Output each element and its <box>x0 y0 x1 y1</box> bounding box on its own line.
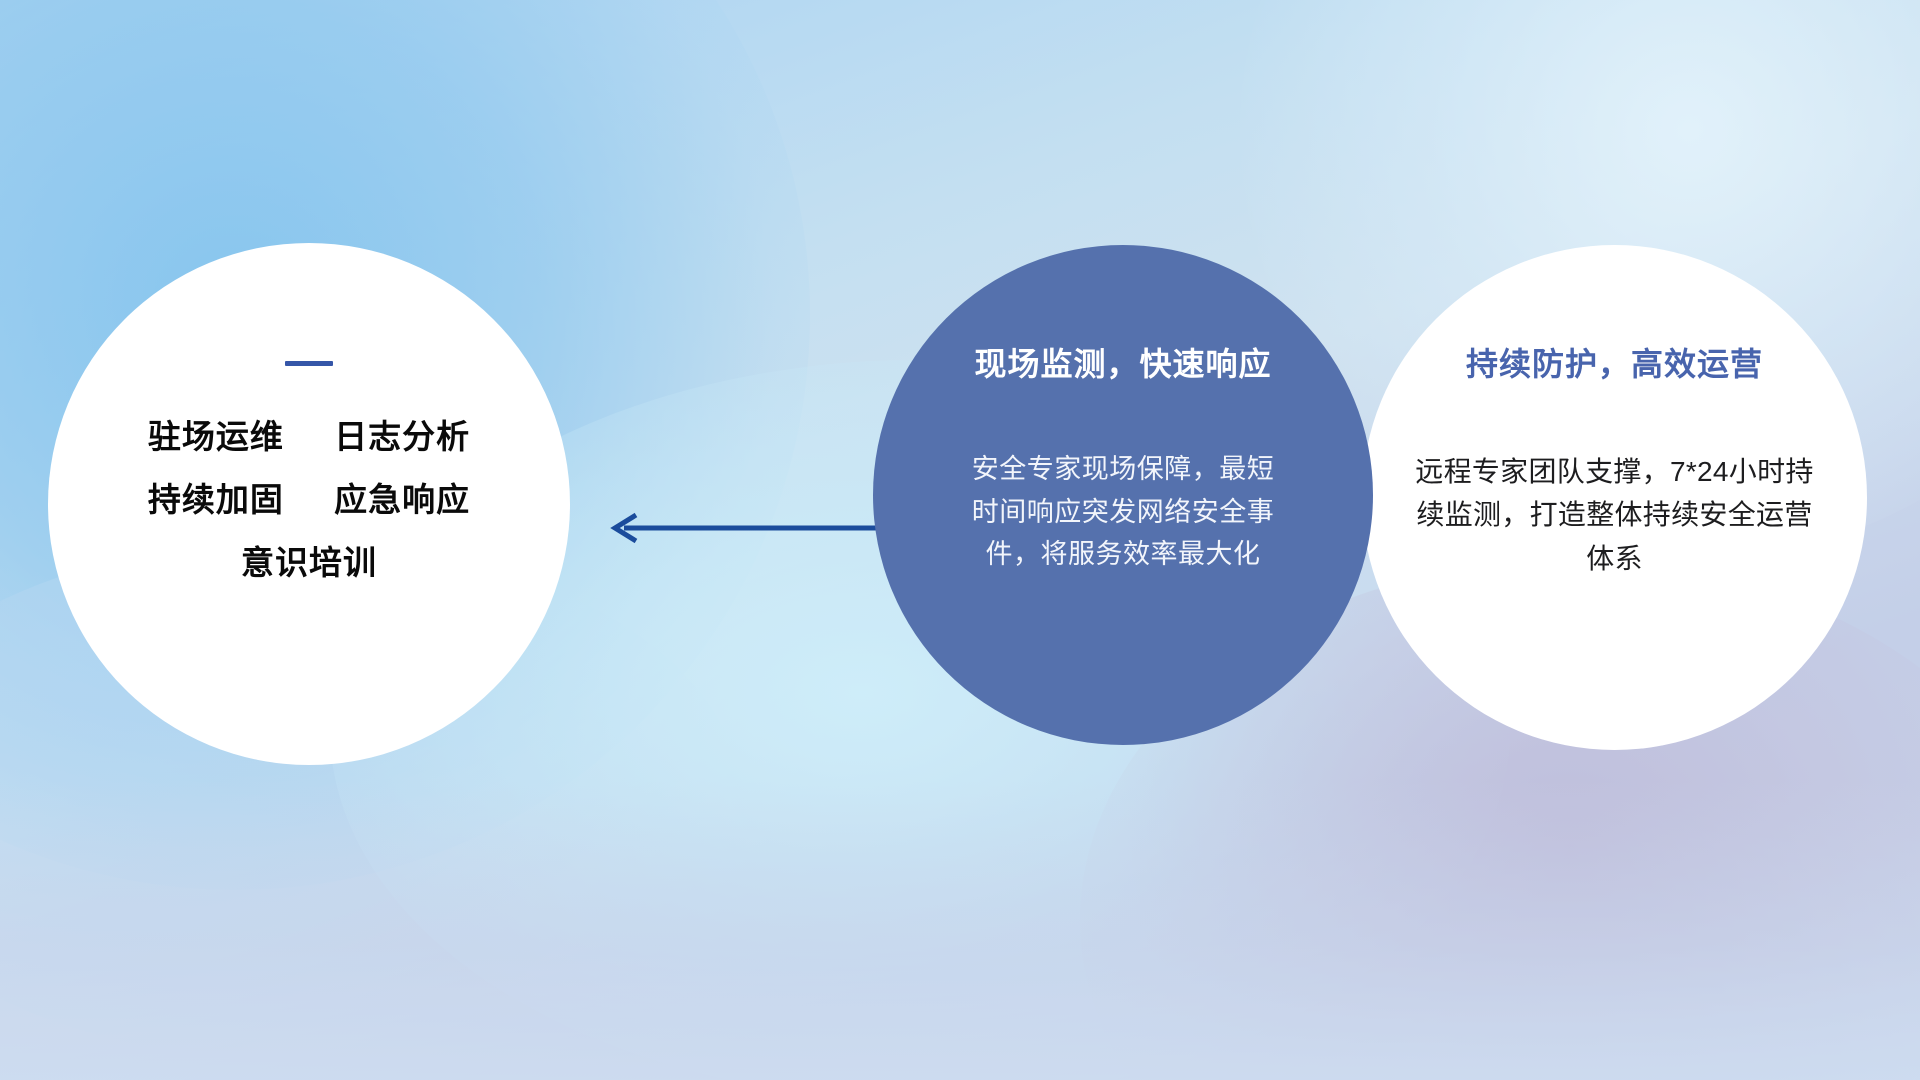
right-circle-body: 远程专家团队支撑，7*24小时持续监测，打造整体持续安全运营体系 <box>1410 450 1820 580</box>
background-bottom-wash <box>0 780 1920 1080</box>
middle-circle-title: 现场监测，快速响应 <box>974 348 1271 380</box>
divider-dash <box>285 361 333 366</box>
slide-canvas: 驻场运维 日志分析 持续加固 应急响应 意识培训 持续防护，高效运营 远程专家团… <box>0 0 1920 1080</box>
capability-label-continuous-hardening: 持续加固 <box>148 481 284 518</box>
capability-row-3: 意识培训 <box>241 546 377 579</box>
onsite-monitoring-circle[interactable]: 现场监测，快速响应 安全专家现场保障，最短时间响应突发网络安全事件，将服务效率最… <box>873 245 1373 745</box>
leftward-arrow-icon <box>600 508 900 548</box>
middle-circle-body: 安全专家现场保障，最短时间响应突发网络安全事件，将服务效率最大化 <box>964 448 1282 576</box>
capability-label-onsite-ops: 驻场运维 <box>148 418 284 455</box>
capability-row-2: 持续加固 应急响应 <box>148 483 470 516</box>
capability-label-emergency-response: 应急响应 <box>334 481 470 518</box>
continuous-protection-circle[interactable]: 持续防护，高效运营 远程专家团队支撑，7*24小时持续监测，打造整体持续安全运营… <box>1362 245 1867 750</box>
capability-list: 驻场运维 日志分析 持续加固 应急响应 意识培训 <box>148 420 470 579</box>
capability-label-log-analysis: 日志分析 <box>334 418 470 455</box>
right-circle-title: 持续防护，高效运营 <box>1466 348 1763 380</box>
capability-label-awareness-training: 意识培训 <box>241 544 377 581</box>
capability-row-1: 驻场运维 日志分析 <box>148 420 470 453</box>
capabilities-circle[interactable]: 驻场运维 日志分析 持续加固 应急响应 意识培训 <box>48 243 570 765</box>
